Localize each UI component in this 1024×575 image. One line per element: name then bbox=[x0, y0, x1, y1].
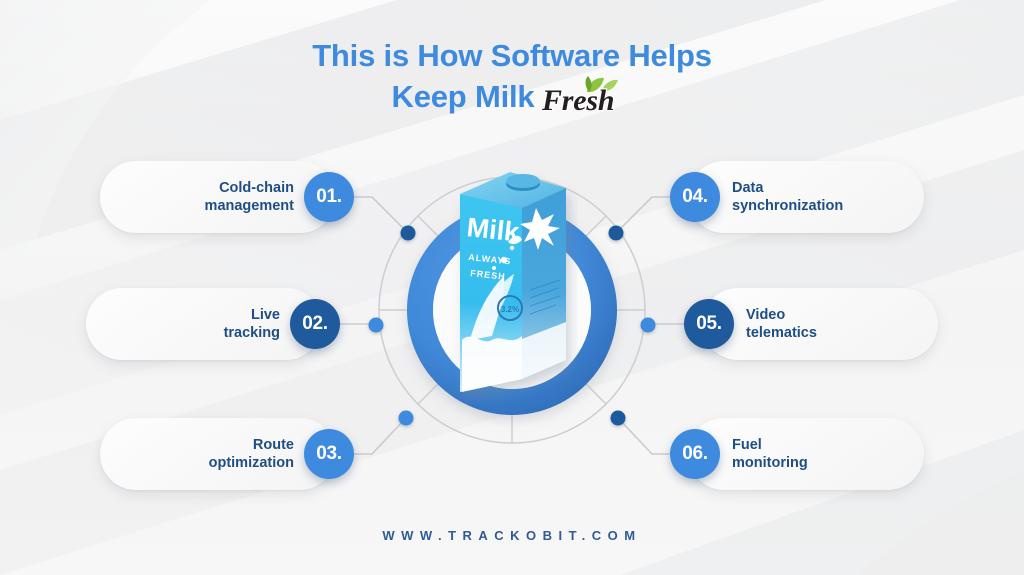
feature-card-02-badge: 02. bbox=[290, 299, 340, 349]
feature-card-05-line1: Video bbox=[746, 306, 817, 324]
page-title: This is How Software Helps Keep Milk Fre… bbox=[0, 36, 1024, 118]
hub-dot-04 bbox=[609, 226, 624, 241]
title-line-1: This is How Software Helps bbox=[0, 36, 1024, 76]
hub-dot-03 bbox=[399, 411, 414, 426]
hub-dot-05 bbox=[641, 318, 656, 333]
feature-card-02-line2: tracking bbox=[224, 324, 280, 342]
hub-dot-01 bbox=[401, 226, 416, 241]
feature-card-06[interactable]: 06. Fuel monitoring bbox=[688, 418, 924, 490]
feature-card-04-line2: synchronization bbox=[732, 197, 843, 215]
fresh-script-logo: Fresh bbox=[540, 76, 632, 118]
feature-card-05-badge: 05. bbox=[684, 299, 734, 349]
feature-card-05-line2: telematics bbox=[746, 324, 817, 342]
feature-card-02[interactable]: Live tracking 02. bbox=[86, 288, 322, 360]
feature-card-02-label: Live tracking bbox=[224, 306, 290, 342]
feature-card-01-line2: management bbox=[205, 197, 294, 215]
center-graphic: Milk ALWAYS FRESH 3.2% bbox=[352, 150, 672, 470]
feature-card-06-line1: Fuel bbox=[732, 436, 808, 454]
feature-card-06-line2: monitoring bbox=[732, 454, 808, 472]
feature-card-01-badge: 01. bbox=[304, 172, 354, 222]
feature-card-01[interactable]: Cold-chain management 01. bbox=[100, 161, 336, 233]
feature-card-04-label: Data synchronization bbox=[720, 179, 843, 215]
carton-brand-text: Milk bbox=[465, 212, 521, 247]
feature-card-04-badge: 04. bbox=[670, 172, 720, 222]
feature-card-03-line2: optimization bbox=[209, 454, 294, 472]
feature-card-03-badge: 03. bbox=[304, 429, 354, 479]
feature-card-06-badge: 06. bbox=[670, 429, 720, 479]
svg-text:3.2%: 3.2% bbox=[501, 305, 519, 314]
hub-dot-02 bbox=[369, 318, 384, 333]
feature-card-04-line1: Data bbox=[732, 179, 843, 197]
fresh-word: Fresh bbox=[541, 84, 614, 117]
feature-card-04[interactable]: 04. Data synchronization bbox=[688, 161, 924, 233]
infographic-canvas: This is How Software Helps Keep Milk Fre… bbox=[0, 0, 1024, 575]
title-line-2: Keep Milk Fresh bbox=[0, 76, 1024, 118]
title-line-2-text: Keep Milk bbox=[392, 76, 535, 118]
hub-dot-06 bbox=[611, 411, 626, 426]
feature-card-01-label: Cold-chain management bbox=[205, 179, 304, 215]
footer-website-url: WWW.TRACKOBIT.COM bbox=[0, 528, 1024, 543]
feature-card-06-label: Fuel monitoring bbox=[720, 436, 808, 472]
milk-carton-illustration: Milk ALWAYS FRESH 3.2% bbox=[448, 164, 578, 404]
feature-card-05-label: Video telematics bbox=[734, 306, 817, 342]
feature-card-01-line1: Cold-chain bbox=[205, 179, 294, 197]
feature-card-03-line1: Route bbox=[209, 436, 294, 454]
feature-card-05[interactable]: 05. Video telematics bbox=[702, 288, 938, 360]
feature-card-03-label: Route optimization bbox=[209, 436, 304, 472]
feature-card-02-line1: Live bbox=[224, 306, 280, 324]
feature-card-03[interactable]: Route optimization 03. bbox=[100, 418, 336, 490]
